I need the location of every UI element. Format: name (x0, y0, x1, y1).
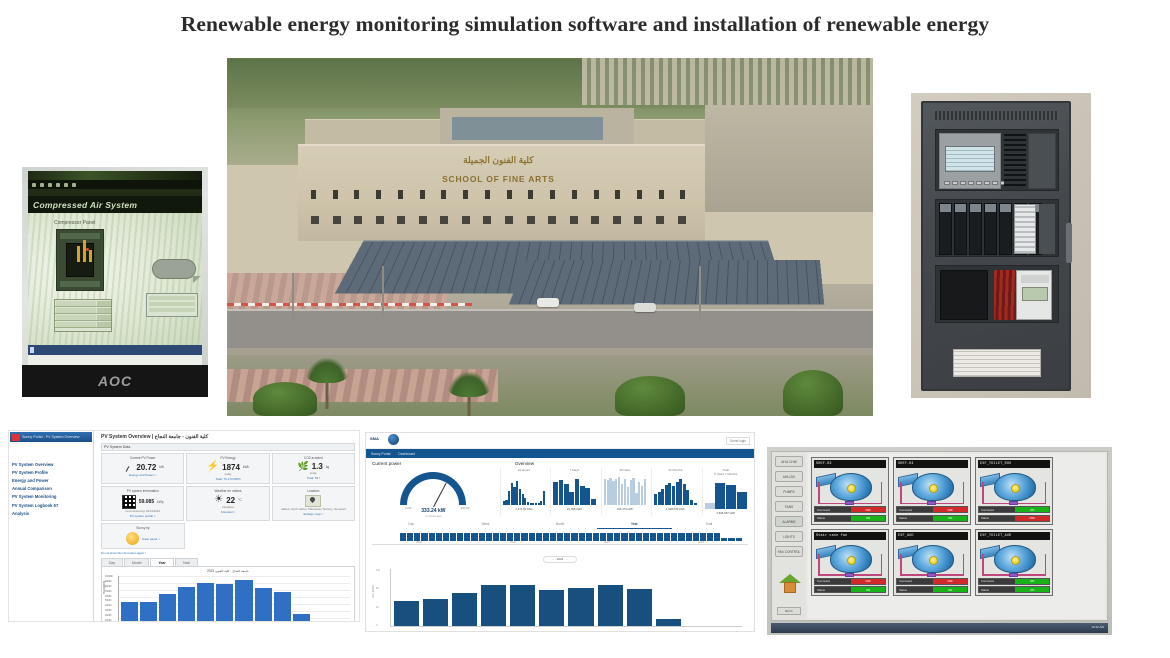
dashboard-top-row: 0 kW 500 kW 333.24 kW 1 minute ago 24 Ho… (366, 466, 754, 518)
overview-heading: Overview (515, 461, 534, 466)
sma-dashboard-screenshot: SMA Guest login Sunny Portal Dashboard C… (365, 432, 755, 632)
tab-month[interactable]: Month (523, 522, 597, 529)
fan-tile-label: Stair case fan (814, 532, 886, 540)
centrifugal-fan-icon (978, 542, 1050, 576)
sma-logo: SMA (370, 436, 379, 441)
card-value: 108,473 kWh (604, 507, 646, 511)
sidebar-item-fans[interactable]: FANS (775, 501, 803, 512)
wiring-diagram-label (953, 349, 1041, 377)
status-table-graphic (54, 299, 112, 332)
fan-tile[interactable]: EXF_TOILET_ROOCommandONStatusOFF (975, 457, 1053, 525)
fan-command-bar: CommandOFF (814, 506, 886, 513)
chart-bar (197, 583, 214, 622)
card-unit: kWh (243, 465, 249, 469)
timeline-bar (443, 533, 449, 541)
chart-plot-area (118, 576, 350, 622)
lightbulb-icon (126, 532, 139, 545)
status-state: ON (1015, 587, 1049, 592)
timeline-bar (657, 533, 663, 541)
timeline-bar (414, 533, 420, 541)
card-unit: °C (238, 498, 242, 502)
timeline-bar (678, 533, 684, 541)
hmi-content-area: SHEF-03CommandOFFStatusONSHEF-04CommandO… (808, 454, 1105, 618)
command-state: OFF (933, 579, 967, 584)
io-module (1004, 133, 1026, 189)
timeline-bar (593, 533, 599, 541)
globe-icon (388, 434, 399, 445)
timeline-bar (643, 533, 649, 541)
status-label: Status (815, 516, 851, 521)
dashboard-header: SMA Guest login (366, 433, 754, 449)
status-label: Status (897, 587, 933, 592)
card-value: 3,828,687 kWh (705, 511, 747, 515)
chart-y-ticks: 100000 90000 80000 70000 60000 50000 400… (105, 576, 113, 622)
timeline-bar (614, 533, 620, 541)
timeline-bar (707, 533, 713, 541)
monitor-bezel: Compressed Air System Compressor Panel (22, 167, 208, 397)
overview-cards: 24 Hours 1,374.56 kWh 7 Days 2 (500, 468, 749, 515)
card-current-pv-power: Current PV Power 20.72 kW Energy and Pow… (101, 453, 184, 484)
status-state: ON (933, 516, 967, 521)
fan-tile-label: SHEF-03 (814, 460, 886, 468)
card-value: 1,038,536 kWh (654, 507, 696, 511)
fan-tile[interactable]: Stair case fanCommandOFFStatusON (811, 529, 889, 597)
timeline-bar (671, 533, 677, 541)
relay-lcd-display (945, 146, 995, 172)
centrifugal-fan-icon (814, 470, 886, 504)
hmi-screen-title: Compressed Air System (28, 196, 202, 213)
dashboard-period-tabs: Day Week Month Year Total (366, 518, 754, 529)
next-year-icon[interactable]: › (563, 557, 570, 561)
timeline-bar (429, 533, 435, 541)
card-sub: today (276, 471, 351, 475)
timeline-bar (686, 533, 692, 541)
building-name-arabic: كلية الفنون الجميلة (401, 155, 595, 166)
fan-status-bar: StatusON (814, 515, 886, 522)
parked-car (634, 303, 656, 312)
timeline-bar (693, 533, 699, 541)
bms-exhaust-fan-monitoring-hmi-photo: AHU-CHW AHU-DX PUMPS FANS ALARMS LIGHTS … (767, 447, 1112, 635)
hmi-diagram-area: Compressor Panel (28, 213, 202, 345)
window-row-lower (311, 216, 686, 224)
card-label: PV system information (105, 489, 180, 493)
card-unit: kWp (157, 500, 163, 504)
chart-bar (255, 588, 272, 622)
timeline-bar (664, 533, 670, 541)
fan-tile-label: SHEF-04 (896, 460, 968, 468)
prev-year-icon[interactable]: ‹ (550, 557, 557, 561)
hmi-addressbar (28, 189, 202, 196)
compressor-label: Compressor Panel (54, 220, 95, 226)
card-subtitle: 5 Years 7 Months (705, 472, 747, 476)
compressed-air-system-hmi-photo: Compressed Air System Compressor Panel (22, 167, 208, 397)
centrifugal-fan-icon (896, 542, 968, 576)
timeline-bar (536, 533, 542, 541)
card-value: 22 (226, 496, 235, 505)
metering-section (935, 265, 1059, 323)
card-link[interactable]: Total: 76,173 MWh (190, 477, 265, 481)
sidebar-item-pv-system-logbook[interactable]: PV System Logbook 57 (12, 501, 90, 509)
command-state: OFF (851, 507, 885, 512)
mini-chart-12m (654, 475, 696, 505)
dashboard-navbar: Sunny Portal Dashboard (366, 449, 754, 458)
timeline-bar (550, 533, 556, 541)
chart-bars (391, 569, 742, 626)
card-title: 30 Days (604, 468, 646, 472)
timeline-bar (629, 533, 635, 541)
sma-logo-icon (12, 434, 20, 441)
parked-car (537, 298, 559, 307)
monitor-chin: AOC (22, 365, 208, 397)
nav-dashboard[interactable]: Dashboard (398, 452, 415, 456)
card-link[interactable]: Forecast > (190, 510, 265, 514)
sidebar-item-annual-comparison[interactable]: Annual Comparison (12, 485, 90, 493)
card-title: 24 Hours (503, 468, 545, 472)
fan-tile[interactable]: EXF_AUDCommandOFFStatusON (893, 529, 971, 597)
command-label: Command (979, 579, 1015, 584)
timeline-bar (400, 533, 406, 541)
card-link[interactable]: Total: 53 t (276, 476, 351, 480)
fan-command-bar: CommandON (978, 506, 1050, 513)
dashboard-section-headers: Current power Overview (366, 458, 754, 466)
pv-data-card-grid: Current PV Power 20.72 kW Energy and Pow… (101, 453, 355, 521)
hide-info-link[interactable]: Do not show this information again > (101, 551, 355, 555)
command-label: Command (815, 507, 851, 512)
mini-chart-24h (503, 475, 545, 505)
hmi-toolbar (28, 180, 202, 189)
timeline-bar (650, 533, 656, 541)
sidebar-item-pv-system-overview[interactable]: PV System Overview (12, 460, 90, 468)
timeline-bar (700, 533, 706, 541)
command-state: ON (1015, 507, 1049, 512)
card-label: Sunny tip (105, 526, 181, 530)
card-unit: kg (326, 465, 329, 469)
chart-bar (598, 585, 623, 626)
nav-sunny-portal[interactable]: Sunny Portal (371, 452, 390, 456)
chart-bar (627, 589, 652, 626)
annual-yield-chart: جامعة النجاح - كلية الفنون 2023 Yield [k… (101, 566, 355, 622)
tab-total[interactable]: Total (672, 522, 746, 529)
sidebar-item-fan-control[interactable]: FAN CONTROL (775, 546, 803, 557)
slide-canvas: Renewable energy monitoring simulation s… (0, 0, 1170, 658)
school-of-fine-arts-pv-installation-photo: كلية الفنون الجميلة SCHOOL OF FINE ARTS (227, 58, 873, 416)
page-title: Renewable energy monitoring simulation s… (0, 12, 1170, 37)
door-handle[interactable] (1066, 223, 1072, 263)
card-value: 1874 (222, 463, 240, 472)
current-power-gauge: 0 kW 500 kW 333.24 kW 1 minute ago (371, 468, 496, 518)
timeline-bar (421, 533, 427, 541)
monthly-yield-chart: Yield [MWh] 120 80 40 0 JanFebMarAprMayJ… (374, 567, 746, 632)
ventilation-louvers (935, 111, 1059, 120)
current-power-heading: Current power (372, 461, 515, 466)
command-label: Command (979, 507, 1015, 512)
tab-year[interactable]: Year (597, 522, 671, 529)
timeline-bar (436, 533, 442, 541)
tab-day[interactable]: Day (374, 522, 448, 529)
tab-month[interactable]: Month (124, 558, 149, 566)
overview-card-24-hours[interactable]: 24 Hours 1,374.56 kWh (500, 468, 547, 515)
timeline-bar (571, 533, 577, 541)
card-link[interactable]: Enlarge map > (276, 512, 351, 516)
card-label: PV Energy (190, 456, 265, 460)
fan-command-bar: CommandOFF (896, 578, 968, 585)
timeline-bar (500, 533, 506, 541)
chart-bar (423, 599, 448, 626)
card-title: 12 Months (654, 468, 696, 472)
chart-bar (159, 594, 176, 622)
overview-card-7-days[interactable]: 7 Days 21,068 kWh (550, 468, 597, 515)
shrub (253, 382, 317, 416)
card-title: 7 Days (553, 468, 595, 472)
timeline-bar (621, 533, 627, 541)
shrub (783, 370, 843, 416)
hmi-screen: AHU-CHW AHU-DX PUMPS FANS ALARMS LIGHTS … (771, 451, 1108, 621)
street-light-pole (699, 266, 701, 318)
card-pv-system-information: PV system information 59.085 kWp Commiss… (101, 486, 184, 521)
chart-y-ticks: 120 80 40 0 (376, 569, 380, 627)
chart-bar (293, 614, 310, 623)
sidebar-item-lights[interactable]: LIGHTS (775, 531, 803, 542)
timeline-bar (564, 533, 570, 541)
sun-icon: ☀ (214, 495, 223, 505)
centrifugal-fan-icon (896, 470, 968, 504)
gauge-min-label: 0 kW (405, 507, 411, 510)
chart-bar (235, 580, 252, 622)
module-rack-section (935, 199, 1059, 257)
status-state: ON (851, 516, 885, 521)
card-weather: Weather for nablus ☀ 22 °C Cloudless For… (186, 486, 269, 521)
aoc-logo: AOC (98, 373, 132, 389)
fan-tile-grid: SHEF-03CommandOFFStatusONSHEF-04CommandO… (808, 454, 1105, 599)
hmi-sidebar: AHU-CHW AHU-DX PUMPS FANS ALARMS LIGHTS … (772, 452, 806, 620)
timeline-bar (464, 533, 470, 541)
overview-card-total[interactable]: Total 5 Years 7 Months 3,828,687 kWh (702, 468, 749, 515)
timeline-bar (514, 533, 520, 541)
fan-command-bar: CommandOFF (814, 578, 886, 585)
chart-bar (481, 585, 506, 626)
sunny-portal-pv-overview-screenshot: Sunny Portal - PV System Overview PV Sys… (8, 430, 360, 622)
mini-chart-30d (604, 475, 646, 505)
timeline-bar (714, 533, 720, 541)
taskbar-clock: 10:42 AM (1087, 623, 1108, 631)
relay-protection-section (935, 129, 1059, 191)
card-link[interactable]: PV system profile > (105, 514, 180, 518)
compressor-cabinet-graphic (56, 229, 104, 291)
chart-y-axis-label: Yield [MWh] (372, 585, 375, 598)
card-label: Weather for nablus (190, 489, 265, 493)
card-sub: today (190, 472, 265, 476)
red-cable-bundle (994, 270, 1016, 320)
centrifugal-fan-icon (978, 470, 1050, 504)
timeline-bar (557, 533, 563, 541)
terminal-block (1014, 204, 1036, 254)
card-co2-avoided: CO2 avoided 🌿 1.3 kg today Total: 53 t (272, 453, 355, 484)
sidebar-item-pv-system-monitoring[interactable]: PV System Monitoring (12, 493, 90, 501)
chart-bar (140, 602, 157, 623)
gauge-timestamp: 1 minute ago (371, 514, 496, 518)
guest-login-button[interactable]: Guest login (726, 437, 750, 445)
gauge-needle (433, 483, 447, 507)
map-pin-icon (305, 495, 321, 507)
centrifugal-fan-icon (814, 542, 886, 576)
status-state: ON (851, 587, 885, 592)
year-selector[interactable]: ‹2023› (366, 547, 754, 565)
card-label: Current PV Power (105, 456, 180, 460)
hmi-statusbar (28, 345, 202, 355)
timeline-bar (586, 533, 592, 541)
card-sunny-tip: Sunny tip Solar panel > (101, 523, 185, 549)
card-pv-energy: PV Energy ⚡ 1874 kWh today Total: 76,173… (186, 453, 269, 484)
fan-status-bar: StatusON (814, 586, 886, 593)
chart-bar (274, 592, 291, 623)
card-value: 20.72 (136, 463, 156, 472)
chart-bar (568, 588, 593, 626)
tab-day[interactable]: Day (101, 558, 123, 566)
card-sub: Cloudless (190, 505, 265, 509)
card-link[interactable]: Solar panel > (142, 537, 160, 541)
empty-compartment (940, 270, 988, 320)
timeline-bar (543, 533, 549, 541)
cabinet-door (921, 101, 1071, 391)
fan-command-bar: CommandON (978, 578, 1050, 585)
card-value: 1,374.56 kWh (503, 507, 545, 511)
overview-card-30-days[interactable]: 30 Days 108,473 kWh (601, 468, 648, 515)
chart-title: جامعة النجاح - كلية الفنون 2023 (105, 569, 351, 573)
fan-tile[interactable]: EXF_TOILET_AUDCommandONStatusON (975, 529, 1053, 597)
sidebar-item-analysis[interactable]: Analysis (12, 509, 90, 517)
monitor-screen: Compressed Air System Compressor Panel (28, 171, 202, 365)
palm-tree (447, 371, 491, 416)
chart-plot-area (390, 569, 742, 627)
gauge-max-label: 500 kW (461, 507, 470, 510)
building-name-english: SCHOOL OF FINE ARTS (401, 174, 595, 184)
mini-chart-7d (553, 475, 595, 505)
chart-bars (119, 576, 350, 622)
card-value: 1.3 (312, 462, 323, 471)
timeline-bar (600, 533, 606, 541)
fan-status-bar: StatusON (978, 586, 1050, 593)
card-label: CO2 avoided (276, 456, 351, 460)
qr-icon (122, 495, 136, 509)
year-timeline-strip[interactable]: 2020 2021 2022 2023 (372, 531, 748, 545)
sidebar-item-energy-and-power[interactable]: Energy and Power (12, 476, 90, 484)
windows-taskbar: 10:42 AM (771, 623, 1108, 633)
command-label: Command (897, 579, 933, 584)
sunny-portal-sidebar: Sunny Portal - PV System Overview PV Sys… (9, 431, 94, 621)
fan-status-bar: StatusOFF (978, 515, 1050, 522)
mini-chart-total (705, 479, 747, 509)
fan-tile-label: EXF_TOILET_AUD (978, 532, 1050, 540)
timeline-year-labels: 2020 2021 2022 2023 (372, 541, 748, 544)
card-label: Location (276, 489, 351, 493)
card-link[interactable]: Energy and Power > (105, 473, 180, 477)
timeline-bar (521, 533, 527, 541)
chart-bar (539, 590, 564, 626)
chart-bar (656, 619, 681, 626)
leaf-icon: 🌿 (297, 462, 308, 471)
chart-bar (452, 593, 477, 626)
pv-system-data-section-header: PV System Data (101, 443, 355, 451)
fan-tile[interactable]: SHEF-03CommandOFFStatusON (811, 457, 889, 525)
status-state: OFF (1015, 516, 1049, 521)
compressor-info-box (146, 293, 198, 317)
energy-meter (1016, 270, 1052, 320)
tab-week[interactable]: Week (448, 522, 522, 529)
timeline-bar (457, 533, 463, 541)
back-button[interactable]: BACK (777, 607, 801, 615)
fan-tile-label: EXF_TOILET_ROO (978, 460, 1050, 468)
street-light-pole (382, 266, 384, 318)
fan-status-bar: StatusON (896, 586, 968, 593)
timeline-bars (400, 531, 742, 541)
command-label: Command (897, 507, 933, 512)
protection-relay (939, 133, 1001, 189)
card-sub: nablus, North nablus, Palestinian Territ… (276, 507, 351, 511)
timeline-bar (486, 533, 492, 541)
shrub (615, 376, 685, 416)
command-label: Command (815, 579, 851, 584)
home-icon[interactable] (779, 574, 801, 594)
timeline-bar (507, 533, 513, 541)
browser-title-text: Sunny Portal - PV System Overview (22, 435, 80, 439)
tab-total[interactable]: Total (175, 558, 198, 566)
chart-bar (394, 601, 419, 626)
status-label: Status (979, 587, 1015, 592)
sidebar-item-pumps[interactable]: PUMPS (775, 486, 803, 497)
background-town (582, 58, 873, 105)
street-light-pole (292, 273, 294, 319)
card-sub: Commissioning: 04/01/2022 (105, 509, 180, 513)
fan-status-bar: StatusON (896, 515, 968, 522)
card-location: Location nablus, North nablus, Palestini… (272, 486, 355, 521)
right-wing-building (705, 105, 873, 212)
blank-plate (1039, 204, 1055, 254)
fan-tile[interactable]: SHEF-04CommandOFFStatusON (893, 457, 971, 525)
status-label: Status (897, 516, 933, 521)
card-unit: kW (159, 465, 164, 469)
window-row-upper (311, 190, 686, 199)
sidebar-item-ahu-chw[interactable]: AHU-CHW (775, 456, 803, 467)
status-state: ON (933, 587, 967, 592)
command-state: OFF (851, 579, 885, 584)
pv-overview-heading: PV System Overview | كلية الفنون - جامعة… (101, 434, 355, 440)
sidebar-item-ahu-dx[interactable]: AHU-DX (775, 471, 803, 482)
card-value: 59.085 (139, 499, 154, 505)
sunny-portal-menu: PV System Overview PV System Profile Ene… (9, 458, 93, 519)
sidebar-item-alarms[interactable]: ALARMS (775, 516, 803, 527)
sidebar-item-pv-system-profile[interactable]: PV System Profile (12, 468, 90, 476)
timeline-bar (579, 533, 585, 541)
red-white-curb (227, 303, 472, 306)
command-state: ON (1015, 579, 1049, 584)
timeline-bar (636, 533, 642, 541)
chart-bar (178, 587, 195, 622)
timeline-bar (407, 533, 413, 541)
fan-command-bar: CommandOFF (896, 506, 968, 513)
overview-card-12-months[interactable]: 12 Months 1,038,536 kWh (651, 468, 698, 515)
timeline-bar (450, 533, 456, 541)
electrical-control-cabinet-photo (911, 93, 1091, 398)
sunny-portal-content: PV System Overview | كلية الفنون - جامعة… (97, 431, 359, 621)
gauge-arc: 0 kW 500 kW (400, 472, 466, 505)
timeline-bar (493, 533, 499, 541)
status-label: Status (815, 587, 851, 592)
tab-year[interactable]: Year (150, 558, 173, 566)
bolt-icon: ⚡ (207, 462, 219, 472)
fan-tile-label: EXF_AUD (896, 532, 968, 540)
blank-plate (1028, 133, 1056, 189)
command-state: OFF (933, 507, 967, 512)
